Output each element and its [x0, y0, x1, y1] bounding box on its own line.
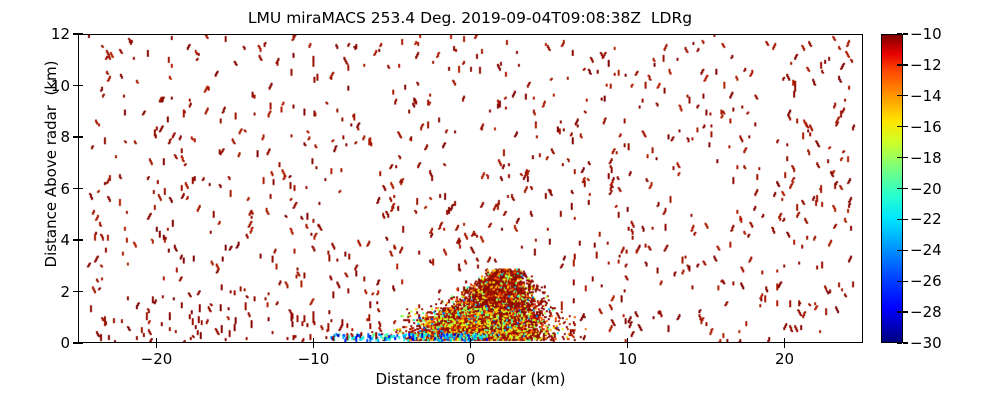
colorbar-tick-label: −14 [910, 87, 942, 105]
radar-figure: LMU miraMACS 253.4 Deg. 2019-09-04T09:08… [0, 0, 1000, 400]
colorbar-tick-mark [903, 64, 908, 65]
colorbar-tick-label: −20 [910, 180, 942, 198]
colorbar-tick-mark [897, 342, 902, 343]
y-tick-label: 0 [60, 334, 70, 352]
x-tick-mark [313, 343, 314, 348]
colorbar-tick-mark [897, 126, 902, 127]
y-tick-mark [78, 188, 83, 189]
colorbar-tick-mark [897, 33, 902, 34]
colorbar-tick-label: −24 [910, 241, 942, 259]
page-title: LMU miraMACS 253.4 Deg. 2019-09-04T09:08… [0, 9, 940, 27]
colorbar-tick-mark [903, 342, 908, 343]
colorbar-tick-label: −30 [910, 334, 942, 352]
x-tick-mark [313, 338, 314, 343]
y-tick-label: 2 [60, 283, 70, 301]
x-tick-mark [156, 343, 157, 348]
x-tick-label: 10 [618, 350, 637, 368]
colorbar-tick-mark [903, 126, 908, 127]
x-axis-label: Distance from radar (km) [78, 370, 863, 388]
y-tick-mark [78, 239, 83, 240]
x-tick-label: −20 [141, 350, 173, 368]
colorbar-tick-mark [903, 95, 908, 96]
x-tick-mark [627, 338, 628, 343]
colorbar-tick-mark [903, 250, 908, 251]
colorbar-tick-label: −26 [910, 272, 942, 290]
colorbar-tick-mark [903, 311, 908, 312]
colorbar-tick-label: −12 [910, 56, 942, 74]
x-tick-mark [627, 343, 628, 348]
colorbar-tick-mark [903, 219, 908, 220]
x-tick-mark [156, 338, 157, 343]
x-tick-mark [784, 343, 785, 348]
colorbar-tick-mark [897, 157, 902, 158]
colorbar-tick-label: −18 [910, 149, 942, 167]
plot-axes[interactable] [78, 34, 863, 343]
colorbar-tick-mark [903, 188, 908, 189]
colorbar-tick-mark [897, 219, 902, 220]
colorbar-tick-label: −28 [910, 303, 942, 321]
y-tick-label: 8 [60, 128, 70, 146]
x-tick-label: 0 [466, 350, 476, 368]
x-tick-label: −10 [298, 350, 330, 368]
colorbar-tick-label: −22 [910, 210, 942, 228]
colorbar-tick-mark [897, 311, 902, 312]
y-tick-label: 6 [60, 180, 70, 198]
colorbar-tick-mark [897, 281, 902, 282]
y-tick-label: 4 [60, 231, 70, 249]
x-tick-mark [470, 338, 471, 343]
colorbar-tick-mark [903, 157, 908, 158]
colorbar-tick-mark [903, 33, 908, 34]
colorbar-tick-mark [897, 95, 902, 96]
colorbar-tick-mark [903, 281, 908, 282]
y-tick-mark [78, 33, 83, 34]
colorbar-tick-mark [897, 188, 902, 189]
x-tick-mark [470, 343, 471, 348]
x-tick-label: 20 [775, 350, 794, 368]
y-tick-mark [78, 342, 83, 343]
x-tick-mark [784, 338, 785, 343]
y-tick-mark [78, 85, 83, 86]
colorbar-tick-mark [897, 64, 902, 65]
colorbar-tick-label: −16 [910, 118, 942, 136]
y-tick-mark [78, 136, 83, 137]
y-axis-label: Distance Above radar (km) [42, 9, 60, 319]
colorbar-tick-label: −10 [910, 25, 942, 43]
colorbar-tick-mark [897, 250, 902, 251]
scatter-data-layer [79, 35, 862, 342]
y-tick-mark [78, 291, 83, 292]
